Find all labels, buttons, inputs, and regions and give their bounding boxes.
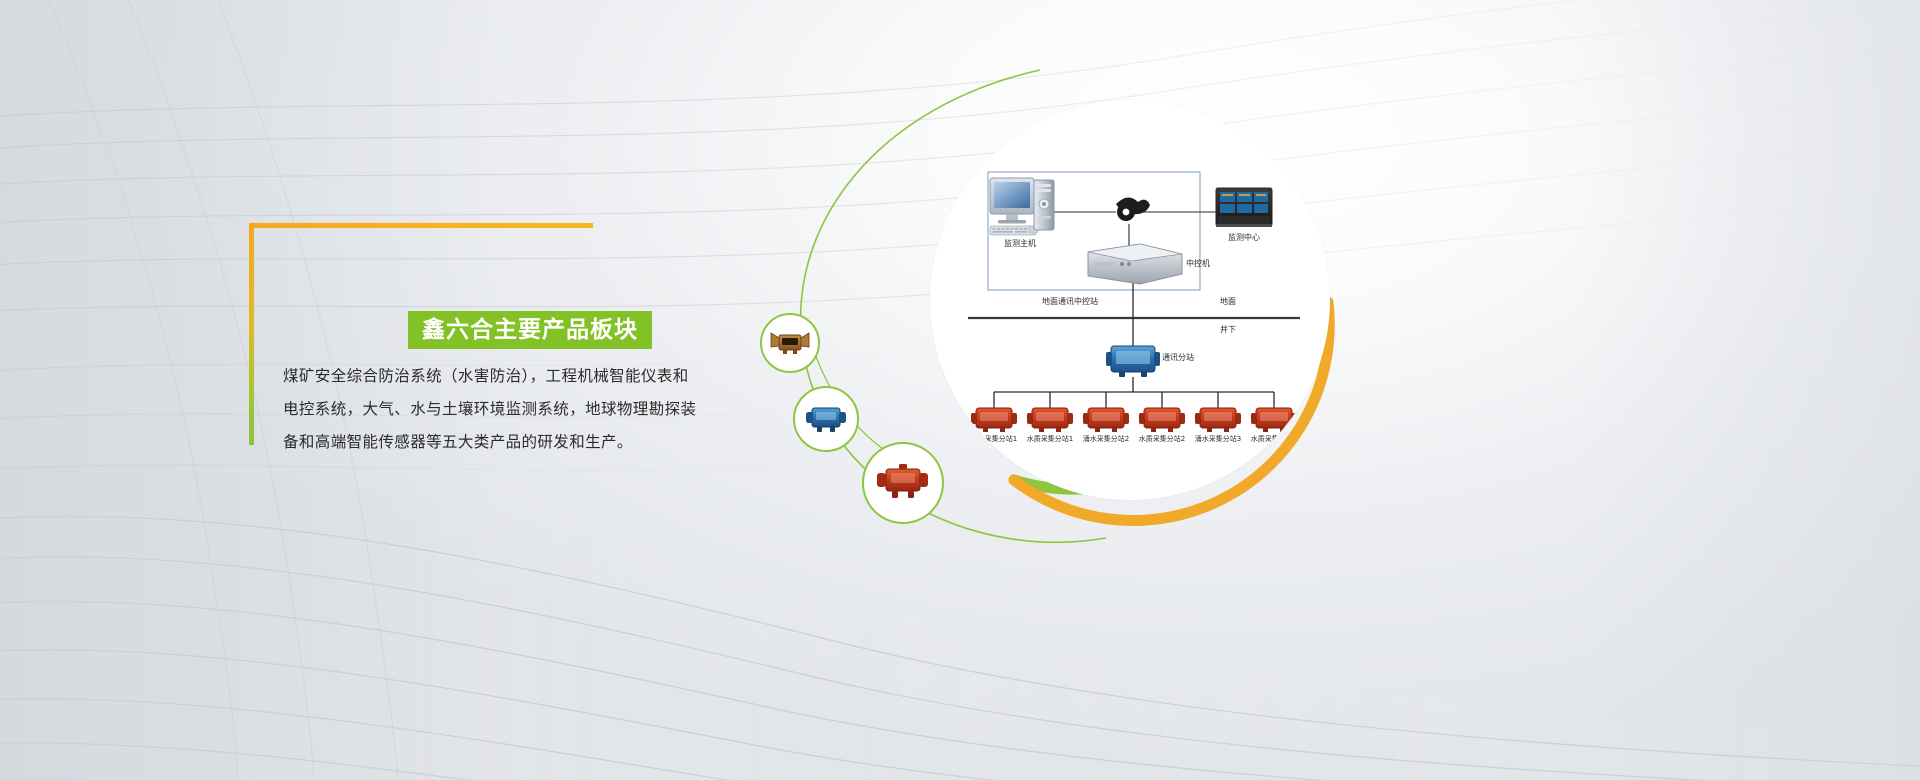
label-substation-1: 水质采集分站1 <box>1027 436 1073 443</box>
comm-substation-icon <box>1106 346 1160 377</box>
label-substation-0: 涌水采集分站1 <box>971 436 1017 443</box>
label-substation-4: 涌水采集分站3 <box>1195 436 1241 443</box>
ethernet-cloud-icon <box>1116 197 1150 221</box>
monitor-host-icon <box>990 178 1054 235</box>
label-comm-substation: 通讯分站 <box>1162 354 1194 362</box>
label-substation-5: 水质采集分站3 <box>1251 436 1297 443</box>
frame-left-bar <box>249 223 254 445</box>
description-line-1: 煤矿安全综合防治系统（水害防治），工程机械智能仪表和 <box>283 360 715 393</box>
label-substation-2: 涌水采集分站2 <box>1083 436 1129 443</box>
banner-stage: 鑫六合主要产品板块 煤矿安全综合防治系统（水害防治），工程机械智能仪表和 电控系… <box>0 0 1920 780</box>
description-line-3: 备和高端智能传感器等五大类产品的研发和生产。 <box>283 426 715 459</box>
label-ground-comm-station: 地面通讯中控站 <box>1042 298 1098 306</box>
frame-top-bar <box>249 223 593 228</box>
page-title-banner: 鑫六合主要产品板块 <box>408 311 652 349</box>
page-title: 鑫六合主要产品板块 <box>422 319 638 342</box>
blue-box-bubble[interactable] <box>793 386 859 452</box>
central-controller-icon <box>1088 244 1182 284</box>
label-surface: 地面 <box>1220 298 1236 306</box>
description-line-2: 电控系统，大气、水与土壤环境监测系统，地球物理勘探装 <box>283 393 715 426</box>
sensor-device-bubble[interactable] <box>760 313 820 373</box>
label-substation-3: 水质采集分站2 <box>1139 436 1185 443</box>
system-diagram: 监测主机 监测中心 中控机 地面通讯中控站 地面 井下 通讯分站 涌水采集分站1… <box>930 100 1330 500</box>
red-pump-bubble[interactable] <box>862 442 944 524</box>
label-central-controller: 中控机 <box>1186 260 1210 268</box>
description-paragraph: 煤矿安全综合防治系统（水害防治），工程机械智能仪表和 电控系统，大气、水与土壤环… <box>283 360 715 459</box>
monitor-center-icon <box>1216 188 1272 227</box>
collection-node-icon <box>971 408 1297 432</box>
red-pump-device-icon <box>872 461 934 505</box>
brown-sensor-device-icon <box>768 327 812 359</box>
label-underground: 井下 <box>1220 326 1236 334</box>
blue-explosion-proof-box-icon <box>801 402 851 436</box>
label-monitor-host: 监测主机 <box>1004 240 1036 248</box>
label-monitor-center: 监测中心 <box>1228 234 1260 242</box>
